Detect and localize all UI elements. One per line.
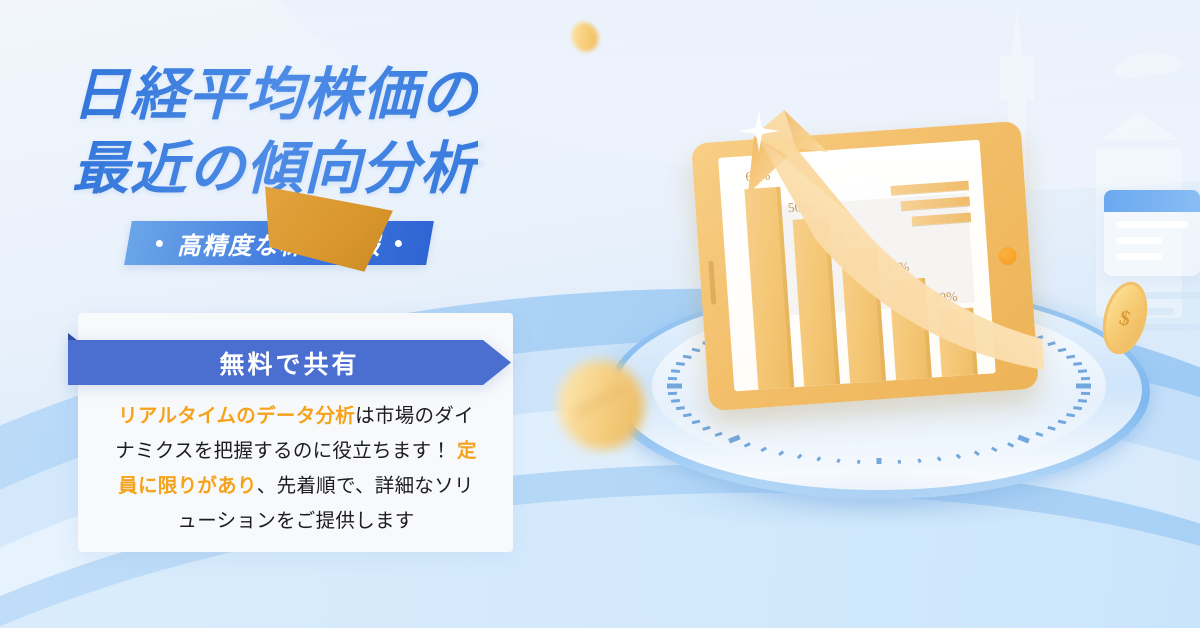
background-document-header [1104, 190, 1200, 212]
free-share-ribbon: 無料で共有 [68, 340, 511, 385]
banner-stage: 日経平均株価の 最近の傾向分析 高精度な株式情報 無料で共有 リアルタイムのデー… [0, 0, 1200, 628]
background-document-line [1116, 221, 1188, 228]
dial-tick [938, 457, 941, 460]
upward-trend-arrow-icon [692, 96, 1062, 396]
dial-tick [745, 444, 751, 447]
bullet-dot-icon [156, 240, 163, 247]
dial-tick [683, 415, 691, 416]
ribbon-fold-icon [68, 333, 78, 341]
dial-tick [671, 401, 680, 402]
dial-tick [761, 448, 766, 451]
dial-tick [715, 433, 722, 435]
dial-tick [858, 460, 859, 464]
dial-tick [729, 437, 740, 441]
bullet-dot-icon [395, 240, 402, 247]
info-card-body: リアルタイムのデータ分析は市場のダイナミクスを把握するのに役立ちます！ 定員に限… [110, 399, 482, 539]
dial-tick [676, 363, 685, 364]
background-document-card [1104, 190, 1200, 276]
dial-tick [703, 427, 711, 429]
dial-tick [1008, 444, 1014, 447]
dial-tick [975, 452, 979, 455]
dial-tick [957, 455, 960, 458]
dial-tick [1018, 437, 1029, 441]
dial-tick [1073, 363, 1082, 364]
dial-tick [1036, 433, 1043, 435]
coin-top-icon [567, 18, 602, 56]
dial-tick [899, 460, 900, 464]
body-highlight-1: リアルタイムのデータ分析 [118, 405, 355, 427]
headline-line-1: 日経平均株価の [72, 63, 478, 127]
ribbon-banner: 無料で共有 [68, 340, 511, 385]
dial-tick [683, 356, 691, 357]
background-document-line [1116, 237, 1162, 244]
dial-tick [1067, 415, 1075, 416]
page-title: 日経平均株価の 最近の傾向分析 [72, 58, 478, 206]
dial-tick [1058, 421, 1066, 423]
dial-tick [779, 452, 783, 455]
dial-tick [1067, 356, 1075, 357]
dial-tick [818, 457, 821, 460]
dial-tick [676, 408, 685, 409]
coin-currency-symbol: $ [1117, 305, 1133, 332]
platform-ground-shadow [640, 470, 1110, 530]
dial-tick [1073, 408, 1082, 409]
dial-tick [919, 459, 921, 463]
dial-tick [671, 371, 680, 372]
dial-tick [798, 455, 801, 458]
background-document-line [1116, 253, 1162, 260]
dial-tick [1048, 427, 1056, 429]
dial-tick [838, 459, 840, 463]
dial-tick [1078, 401, 1087, 402]
dial-tick [692, 421, 700, 423]
dial-tick [1078, 371, 1087, 372]
dial-tick [992, 448, 997, 451]
ribbon-label: 無料で共有 [219, 345, 359, 381]
